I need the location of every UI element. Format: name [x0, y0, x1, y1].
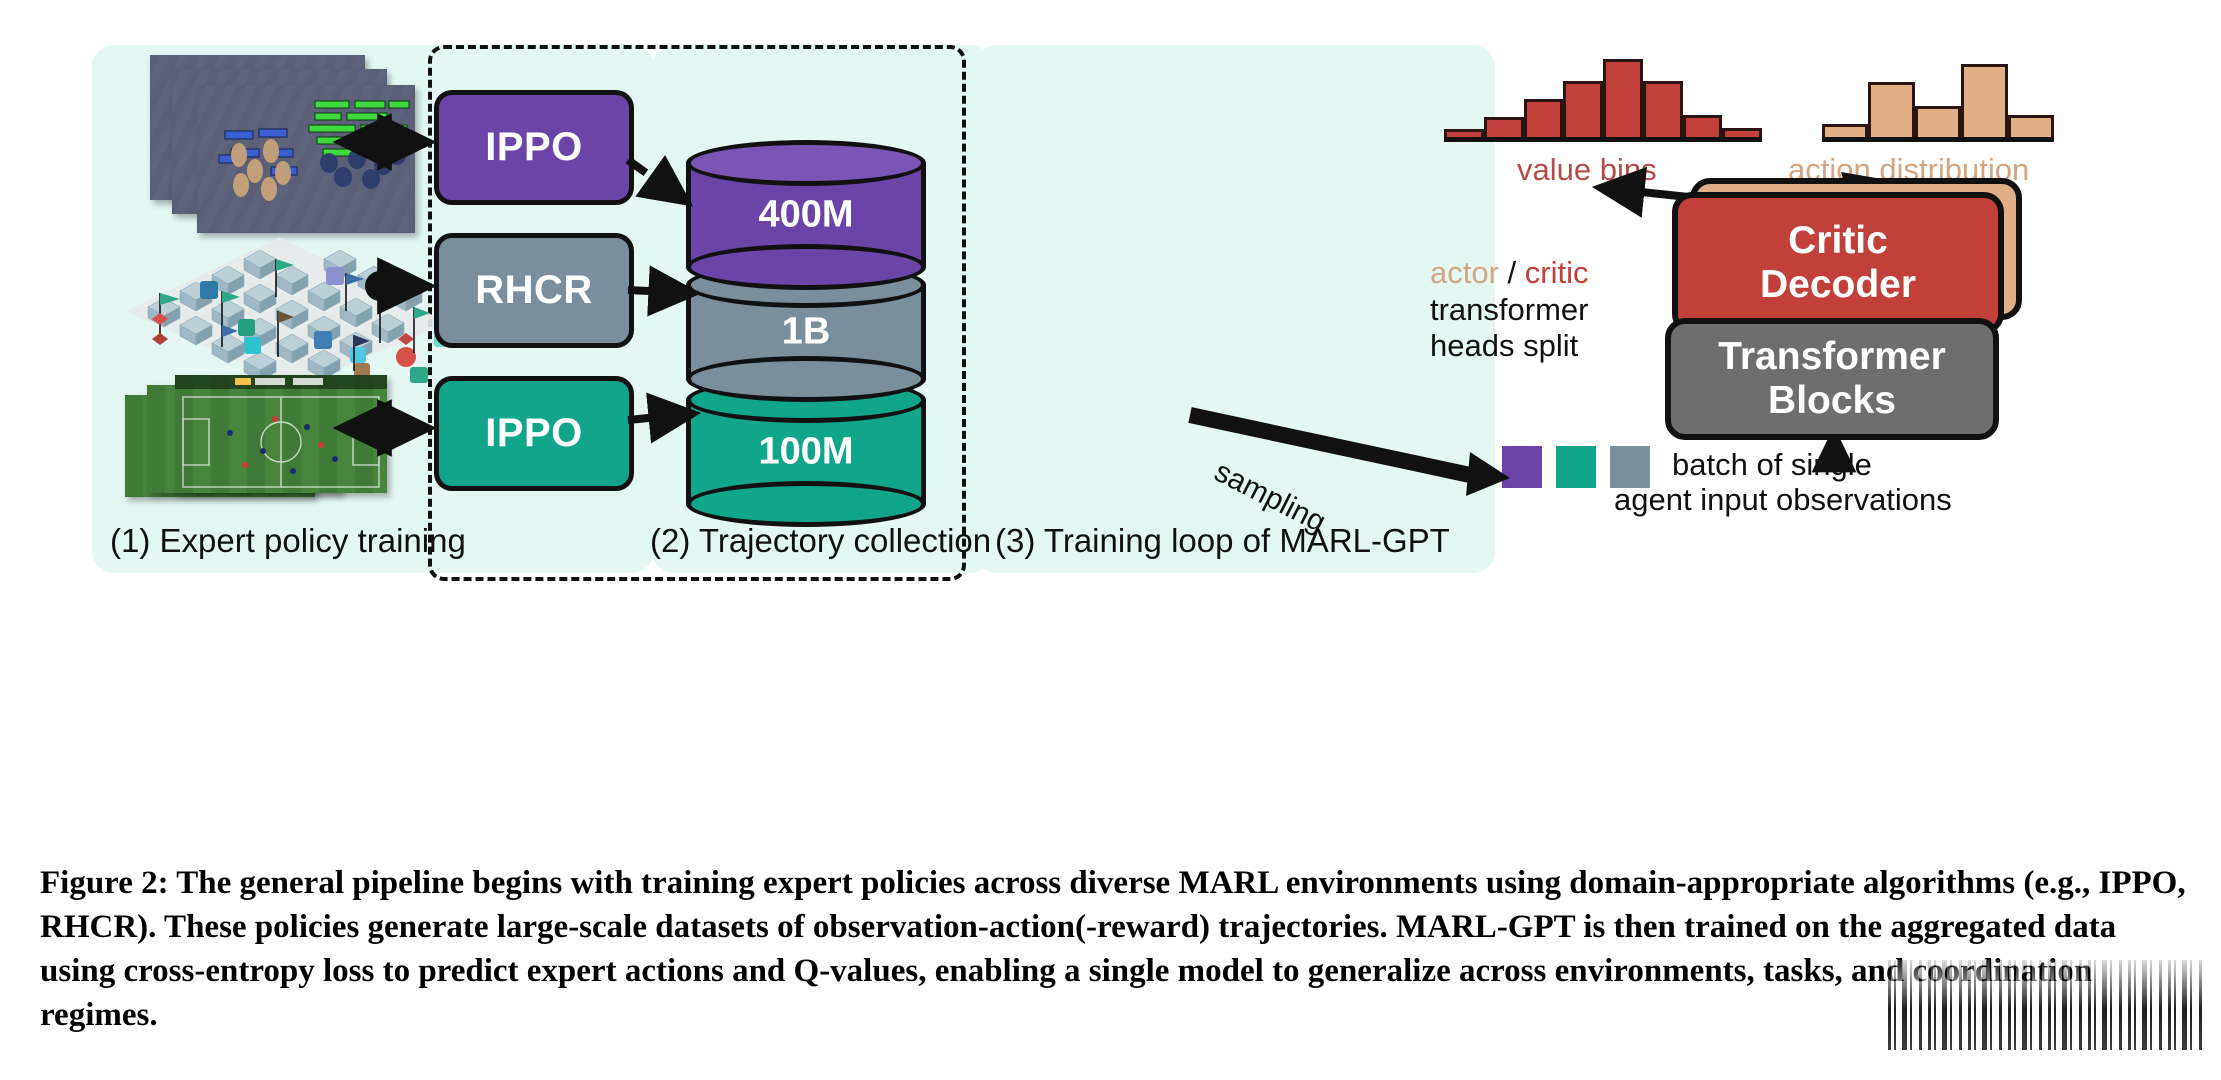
dataset-label-400m: 400M: [686, 194, 926, 237]
dataset-cylinder-400m: 400M: [686, 140, 926, 290]
actor-word: actor: [1430, 255, 1499, 290]
bar-1: [1822, 124, 1868, 137]
stage-caption-1: (1) Expert policy training: [110, 522, 466, 560]
football-pitch-graphic: [175, 375, 387, 493]
bar-4: [1961, 64, 2007, 137]
dataset-label-1b: 1B: [686, 311, 926, 354]
env-thumbnail-google-football: [125, 375, 390, 510]
cylinder-bottom: [686, 481, 926, 527]
critic-decoder-box[interactable]: Critic Decoder: [1672, 192, 2004, 334]
chart-value-bins: [1444, 55, 1762, 142]
bar-5: [1603, 59, 1643, 137]
figure-caption: Figure 2: The general pipeline begins wi…: [40, 862, 2190, 1038]
bar-3: [1915, 106, 1961, 137]
cylinder-bottom: [686, 244, 926, 290]
heads-split-line2: transformer: [1430, 292, 1680, 329]
swatch-teal: [1556, 446, 1596, 488]
bar-6: [1643, 81, 1683, 137]
swatch-purple: [1502, 446, 1542, 488]
dataset-label-100m: 100M: [686, 431, 926, 474]
algorithm-label: RHCR: [475, 268, 593, 313]
figure-container: IPPO RHCR IPPO 100M 1B 400M value bins a…: [0, 0, 2221, 1080]
algorithm-label: IPPO: [485, 411, 583, 456]
warehouse-isometric-graphic: [118, 215, 458, 395]
critic-decoder-line1: Critic: [1788, 219, 1888, 263]
transformer-blocks-box[interactable]: Transformer Blocks: [1665, 318, 1999, 440]
heads-split-caption: actor / critic transformer heads split: [1430, 255, 1680, 365]
algorithm-box-ippo-football[interactable]: IPPO: [434, 376, 634, 491]
bar-1: [1444, 129, 1484, 137]
env-thumbnail-starcraft: [150, 55, 400, 225]
bar-7: [1683, 115, 1723, 137]
bar-2: [1868, 82, 1914, 137]
heads-split-separator: /: [1499, 255, 1525, 290]
bar-8: [1722, 128, 1762, 137]
cylinder-bottom: [686, 356, 926, 402]
soccer-layer-front: [175, 375, 387, 493]
starcraft-units-graphic: [197, 85, 415, 233]
dataset-cylinder-stack: 100M 1B 400M: [686, 140, 926, 470]
transformer-line2: Blocks: [1768, 379, 1896, 423]
algorithm-box-ippo-starcraft[interactable]: IPPO: [434, 90, 634, 205]
algorithm-box-rhcr[interactable]: RHCR: [434, 233, 634, 348]
batch-observations-caption: batch of single agent input observations: [1672, 448, 2002, 517]
chart-value-bins-label: value bins: [1517, 152, 1657, 188]
stage-caption-2: (2) Trajectory collection: [650, 522, 991, 560]
algorithm-label: IPPO: [485, 125, 583, 170]
critic-decoder-line2: Decoder: [1760, 263, 1916, 307]
batch-line2: agent input observations: [1614, 483, 2002, 518]
chart-action-distribution: [1822, 55, 2054, 142]
stage-caption-3: (3) Training loop of MARL-GPT: [995, 522, 1450, 560]
batch-line1: batch of single: [1672, 448, 2002, 483]
bar-2: [1484, 117, 1524, 137]
bar-5: [2008, 115, 2054, 137]
transformer-line1: Transformer: [1718, 335, 1946, 379]
bar-3: [1524, 99, 1564, 137]
heads-split-line1: actor / critic: [1430, 255, 1680, 292]
cylinder-top: [686, 140, 926, 186]
env-thumbnail-warehouse-grid: [118, 215, 458, 395]
heads-split-line3: heads split: [1430, 328, 1680, 365]
critic-word: critic: [1525, 255, 1589, 290]
scan-artifact-overlay: [1888, 960, 2206, 1050]
env-thumb-layer-front: [197, 85, 415, 233]
bar-4: [1563, 81, 1603, 137]
